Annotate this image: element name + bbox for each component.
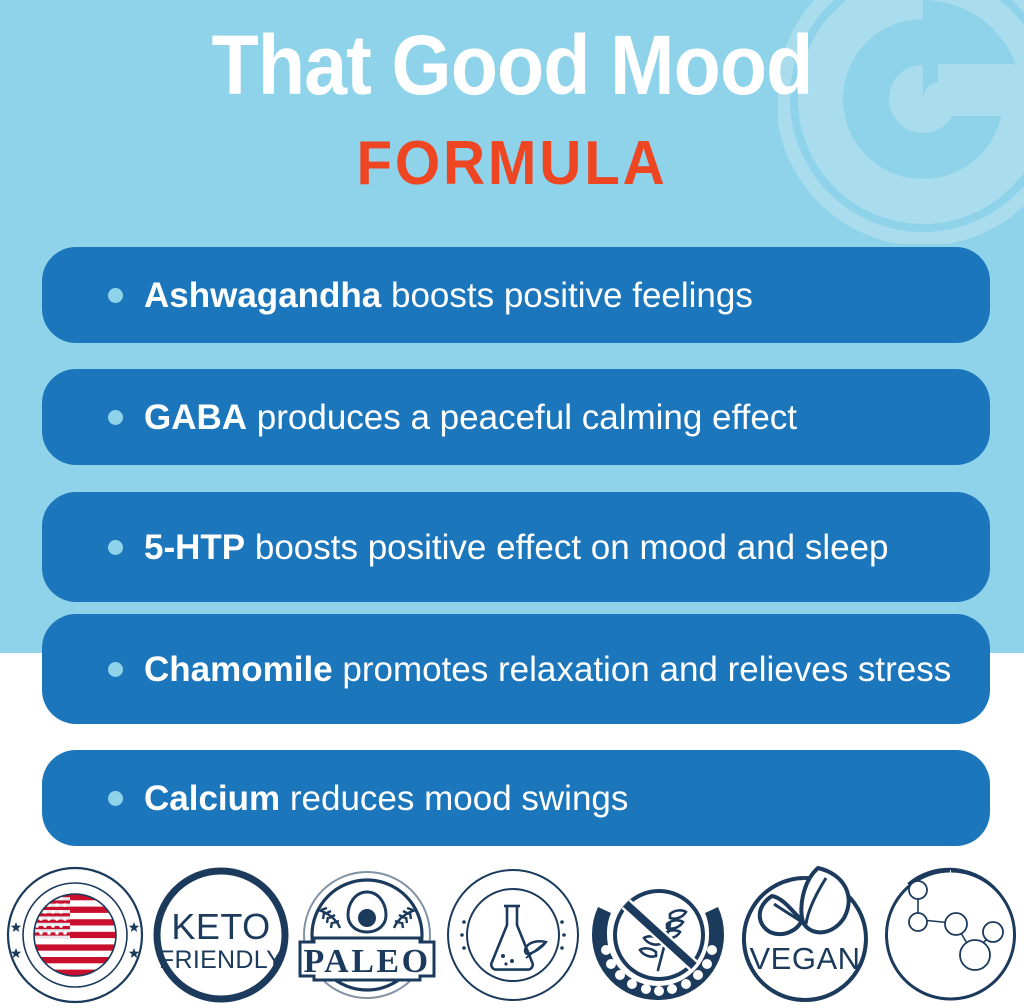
- bullet-dot-icon: [108, 791, 123, 806]
- bullet-dot-icon: [108, 540, 123, 555]
- benefit-ingredient: Chamomile: [144, 650, 333, 689]
- benefit-ingredient: 5-HTP: [144, 528, 245, 567]
- benefit-text: 5-HTP boosts positive effect on mood and…: [144, 527, 974, 568]
- badge-text-free: FREE: [440, 862, 478, 865]
- badge-paleo: PALEO: [294, 862, 440, 1008]
- benefit-row-chamomile: Chamomile promotes relaxation and reliev…: [42, 614, 990, 724]
- badge-text-safety-tested: SAFETY TESTED: [878, 862, 1016, 866]
- bullet-dot-icon: [108, 288, 123, 303]
- badge-text-paleo: PALEO: [303, 943, 430, 980]
- benefit-description: produces a peaceful calming effect: [247, 398, 797, 437]
- badge-vegan: VEGAN: [732, 862, 878, 1008]
- badge-keto-friendly: KETO FRIENDLY: [148, 862, 294, 1008]
- benefit-ingredient: GABA: [144, 398, 247, 437]
- certification-badges-strip: MADE IN USA MADE IN USA KETO FRIENDLY: [0, 862, 1024, 1008]
- bullet-dot-icon: [108, 662, 123, 677]
- headline-block: That Good Mood FORMULA: [0, 0, 1024, 230]
- benefit-text: Calcium reduces mood swings: [144, 778, 974, 819]
- benefit-row-ashwagandha: Ashwagandha boosts positive feelings: [42, 247, 990, 343]
- benefit-description: boosts positive feelings: [381, 276, 753, 315]
- poster-root: That Good Mood FORMULA Ashwagandha boost…: [0, 0, 1024, 1008]
- badge-text-friendly: FRIENDLY: [159, 946, 283, 974]
- benefit-row-5htp: 5-HTP boosts positive effect on mood and…: [42, 492, 990, 602]
- badge-text-keto: KETO: [171, 906, 270, 947]
- page-subtitle: FORMULA: [31, 131, 994, 197]
- badge-text-vegan: VEGAN: [749, 941, 860, 976]
- bullet-dot-icon: [108, 410, 123, 425]
- benefit-row-calcium: Calcium reduces mood swings: [42, 750, 990, 846]
- benefit-ingredient: Calcium: [144, 779, 280, 818]
- benefit-ingredient: Ashwagandha: [144, 276, 381, 315]
- badge-gluten-free: GLUTEN FREE: [586, 862, 732, 1008]
- benefit-description: promotes relaxation and relieves stress: [333, 650, 952, 689]
- badge-safety-tested: SAFETY TESTED: [878, 862, 1024, 1008]
- page-title: That Good Mood: [41, 20, 983, 110]
- badge-text-bottom: MADE IN USA: [2, 862, 100, 865]
- benefit-description: reduces mood swings: [280, 779, 628, 818]
- badge-text-gluten-free: GLUTEN FREE: [586, 862, 721, 866]
- benefit-text: Ashwagandha boosts positive feelings: [144, 275, 974, 316]
- benefit-row-gaba: GABA produces a peaceful calming effect: [42, 369, 990, 465]
- badge-paraben-free: PARABEN FREE: [440, 862, 586, 1008]
- benefit-text: GABA produces a peaceful calming effect: [144, 397, 974, 438]
- benefit-description: boosts positive effect on mood and sleep: [245, 528, 888, 567]
- badge-made-in-usa: MADE IN USA MADE IN USA: [2, 862, 148, 1008]
- benefit-text: Chamomile promotes relaxation and reliev…: [144, 649, 974, 690]
